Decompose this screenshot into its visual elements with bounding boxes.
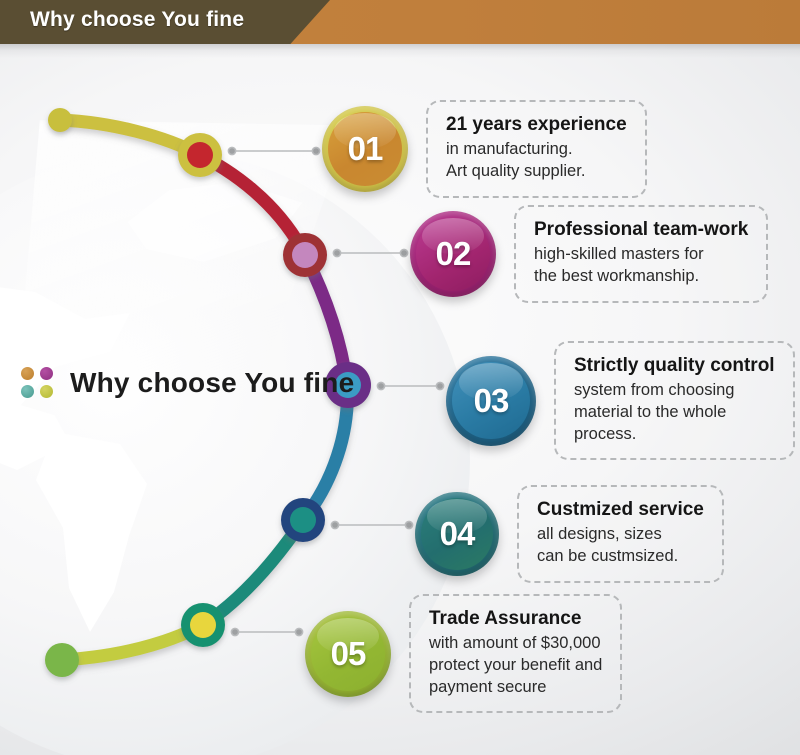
number-badge-04-label: 04 <box>440 515 475 553</box>
feature-item-01[interactable]: 01 21 years experience in manufacturing.… <box>322 100 647 198</box>
number-badge-05[interactable]: 05 <box>305 611 391 697</box>
header-title: Why choose You fine <box>30 8 244 32</box>
feature-item-04[interactable]: 04 Custmized service all designs, sizes … <box>415 485 724 583</box>
brand-text: Why choose You fine <box>70 367 354 399</box>
callout-line-01-2: Art quality supplier. <box>446 161 627 183</box>
callout-line-04-1: all designs, sizes <box>537 524 704 546</box>
callout-line-05-2: protect your benefit and <box>429 655 602 677</box>
callout-line-01-1: in manufacturing. <box>446 139 627 161</box>
infographic-page: Why choose You fine 01 21 years experien… <box>0 0 800 755</box>
connector-dot-02-end <box>400 249 407 256</box>
callout-box-05: Trade Assurance with amount of $30,000 p… <box>409 594 622 713</box>
feature-item-05[interactable]: 05 Trade Assurance with amount of $30,00… <box>305 594 622 713</box>
feature-item-02[interactable]: 02 Professional team-work high-skilled m… <box>410 205 768 303</box>
feature-item-03[interactable]: 03 Strictly quality control system from … <box>446 341 795 460</box>
callout-box-02: Professional team-work high-skilled mast… <box>514 205 768 303</box>
number-badge-05-label: 05 <box>331 635 366 673</box>
callout-title-05: Trade Assurance <box>429 607 602 630</box>
dot-teal-icon <box>21 385 34 398</box>
callout-line-02-1: high-skilled masters for <box>534 244 748 266</box>
number-badge-04[interactable]: 04 <box>415 492 499 576</box>
number-badge-03-label: 03 <box>474 382 509 420</box>
callout-title-02: Professional team-work <box>534 218 748 241</box>
callout-box-04: Custmized service all designs, sizes can… <box>517 485 724 583</box>
number-badge-02-label: 02 <box>436 235 471 273</box>
dot-orange-icon <box>21 367 34 380</box>
callout-line-02-2: the best workmanship. <box>534 266 748 288</box>
callout-box-01: 21 years experience in manufacturing. Ar… <box>426 100 647 198</box>
number-badge-02[interactable]: 02 <box>410 211 496 297</box>
dot-magenta-icon <box>40 367 53 380</box>
callout-line-03-2: material to the whole <box>574 402 775 424</box>
number-badge-03[interactable]: 03 <box>446 356 536 446</box>
number-badge-01[interactable]: 01 <box>322 106 408 192</box>
callout-line-04-2: can be custmsized. <box>537 546 704 568</box>
dot-yellow-green-icon <box>40 385 53 398</box>
callout-title-01: 21 years experience <box>446 113 627 136</box>
callout-line-05-3: payment secure <box>429 677 602 699</box>
number-badge-01-label: 01 <box>348 130 383 168</box>
center-brand-label: Why choose You fine <box>20 367 354 399</box>
callout-line-03-3: process. <box>574 424 775 446</box>
callout-title-03: Strictly quality control <box>574 354 775 377</box>
callout-line-03-1: system from choosing <box>574 380 775 402</box>
header-banner-shadow <box>0 44 800 58</box>
callout-title-04: Custmized service <box>537 498 704 521</box>
callout-box-03: Strictly quality control system from cho… <box>554 341 795 460</box>
header-banner: Why choose You fine <box>0 0 800 44</box>
callout-line-05-1: with amount of $30,000 <box>429 633 602 655</box>
four-dots-icon <box>20 367 56 399</box>
